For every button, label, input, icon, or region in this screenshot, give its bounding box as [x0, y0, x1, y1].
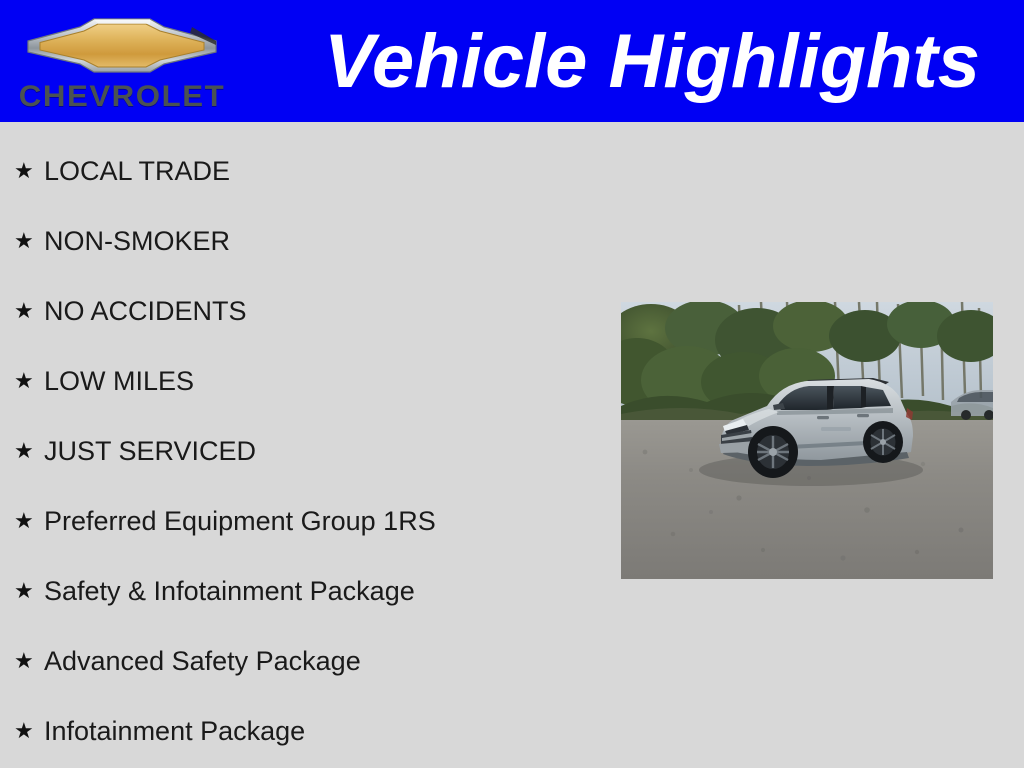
star-bullet-icon: ★ [14, 510, 44, 532]
list-item-label: LOCAL TRADE [44, 156, 600, 186]
star-bullet-icon: ★ [14, 230, 44, 252]
list-item-label: NON-SMOKER [44, 226, 600, 256]
star-bullet-icon: ★ [14, 160, 44, 182]
vehicle-highlights-list: ★ LOCAL TRADE ★ NON-SMOKER ★ NO ACCIDENT… [0, 136, 600, 766]
list-item: ★ Advanced Safety Package [0, 626, 600, 696]
list-item: ★ NO ACCIDENTS [0, 276, 600, 346]
list-item: ★ Preferred Equipment Group 1RS [0, 486, 600, 556]
list-item-label: JUST SERVICED [44, 436, 600, 466]
header-banner: CHEVROLET Vehicle Highlights [0, 0, 1024, 122]
list-item: ★ LOCAL TRADE [0, 136, 600, 206]
list-item: ★ JUST SERVICED [0, 416, 600, 486]
list-item-label: Safety & Infotainment Package [44, 576, 600, 606]
chevrolet-logo: CHEVROLET [18, 8, 226, 116]
star-bullet-icon: ★ [14, 650, 44, 672]
page-title: Vehicle Highlights [252, 10, 1012, 114]
vehicle-highlights-slide: CHEVROLET Vehicle Highlights ★ LOCAL TRA… [0, 0, 1024, 768]
star-bullet-icon: ★ [14, 370, 44, 392]
list-item: ★ Infotainment Package [0, 696, 600, 766]
list-item: ★ LOW MILES [0, 346, 600, 416]
list-item: ★ NON-SMOKER [0, 206, 600, 276]
list-item: ★ Safety & Infotainment Package [0, 556, 600, 626]
list-item-label: Preferred Equipment Group 1RS [44, 506, 600, 536]
list-item-label: Advanced Safety Package [44, 646, 600, 676]
chevrolet-wordmark: CHEVROLET [14, 82, 230, 112]
list-item-label: Infotainment Package [44, 716, 600, 746]
star-bullet-icon: ★ [14, 300, 44, 322]
list-item-label: LOW MILES [44, 366, 600, 396]
star-bullet-icon: ★ [14, 580, 44, 602]
vehicle-photo [621, 302, 993, 579]
chevrolet-bowtie-icon [24, 14, 220, 76]
star-bullet-icon: ★ [14, 440, 44, 462]
star-bullet-icon: ★ [14, 720, 44, 742]
list-item-label: NO ACCIDENTS [44, 296, 600, 326]
